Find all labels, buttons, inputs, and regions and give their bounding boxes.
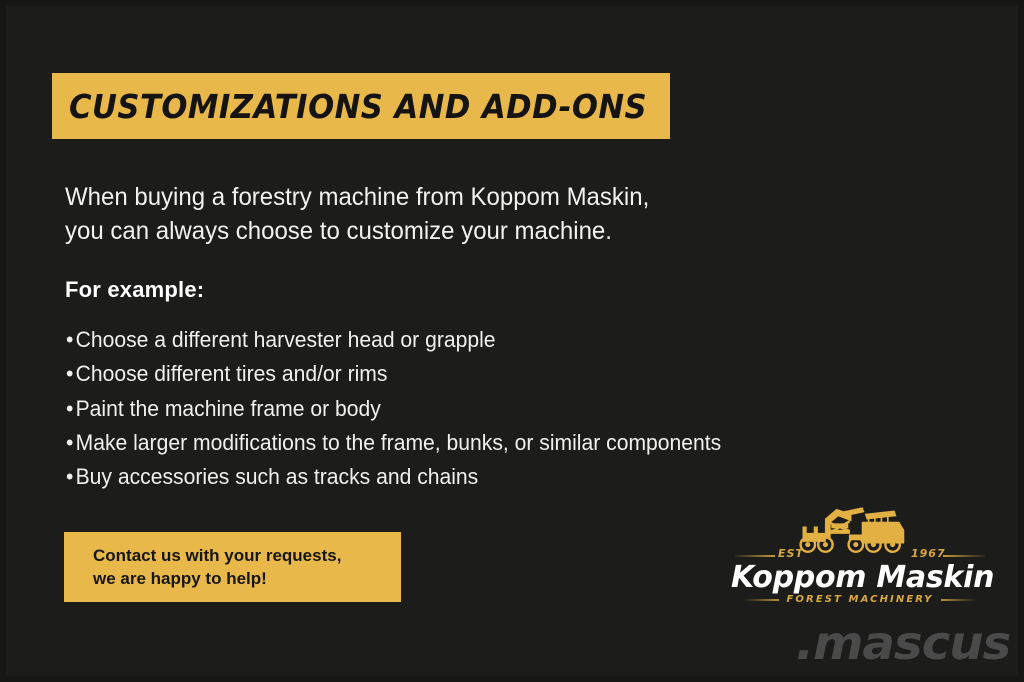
brand-name: Koppom Maskin bbox=[731, 560, 989, 595]
list-item-label: Choose a different harvester head or gra… bbox=[76, 327, 496, 352]
contact-line-1: Contact us with your requests, bbox=[93, 544, 401, 567]
page-title: CUSTOMIZATIONS AND ADD-ONS bbox=[69, 87, 647, 126]
list-item-label: Make larger modifications to the frame, … bbox=[76, 430, 722, 455]
bullet-icon: • bbox=[66, 460, 76, 494]
customization-options-list: •Choose a different harvester head or gr… bbox=[66, 323, 826, 494]
list-item-label: Buy accessories such as tracks and chain… bbox=[76, 464, 479, 489]
koppom-maskin-logo: EST 1967 Koppom Maskin FOREST MACHINERY bbox=[731, 503, 989, 607]
tagline-rule-left bbox=[745, 599, 779, 601]
bullet-icon: • bbox=[66, 426, 76, 460]
est-rule-right bbox=[943, 555, 985, 557]
promo-slide: CUSTOMIZATIONS AND ADD-ONS When buying a… bbox=[0, 0, 1024, 682]
list-item-label: Paint the machine frame or body bbox=[76, 396, 381, 421]
brand-tagline-row: FOREST MACHINERY bbox=[731, 594, 989, 605]
est-rule-left bbox=[735, 555, 775, 557]
mascus-watermark: .mascus bbox=[796, 616, 1010, 670]
list-item: •Paint the machine frame or body bbox=[66, 392, 796, 426]
list-item: •Make larger modifications to the frame,… bbox=[66, 426, 796, 460]
est-year: 1967 bbox=[911, 547, 946, 560]
intro-paragraph: When buying a forestry machine from Kopp… bbox=[65, 180, 756, 248]
brand-tagline: FOREST MACHINERY bbox=[786, 594, 933, 605]
bullet-icon: • bbox=[66, 392, 76, 426]
list-item-label: Choose different tires and/or rims bbox=[76, 361, 388, 386]
contact-line-2: we are happy to help! bbox=[93, 567, 401, 590]
list-item: •Buy accessories such as tracks and chai… bbox=[66, 460, 796, 494]
intro-line-1: When buying a forestry machine from Kopp… bbox=[65, 180, 756, 214]
tagline-rule-right bbox=[941, 599, 975, 601]
est-label: EST bbox=[778, 547, 804, 560]
for-example-label: For example: bbox=[65, 277, 204, 303]
list-item: •Choose a different harvester head or gr… bbox=[66, 323, 796, 357]
title-banner: CUSTOMIZATIONS AND ADD-ONS bbox=[52, 73, 670, 139]
bullet-icon: • bbox=[66, 357, 76, 391]
list-item: •Choose different tires and/or rims bbox=[66, 357, 796, 391]
bullet-icon: • bbox=[66, 323, 76, 357]
intro-line-2: you can always choose to customize your … bbox=[65, 214, 756, 248]
contact-cta-box[interactable]: Contact us with your requests, we are ha… bbox=[64, 532, 401, 602]
